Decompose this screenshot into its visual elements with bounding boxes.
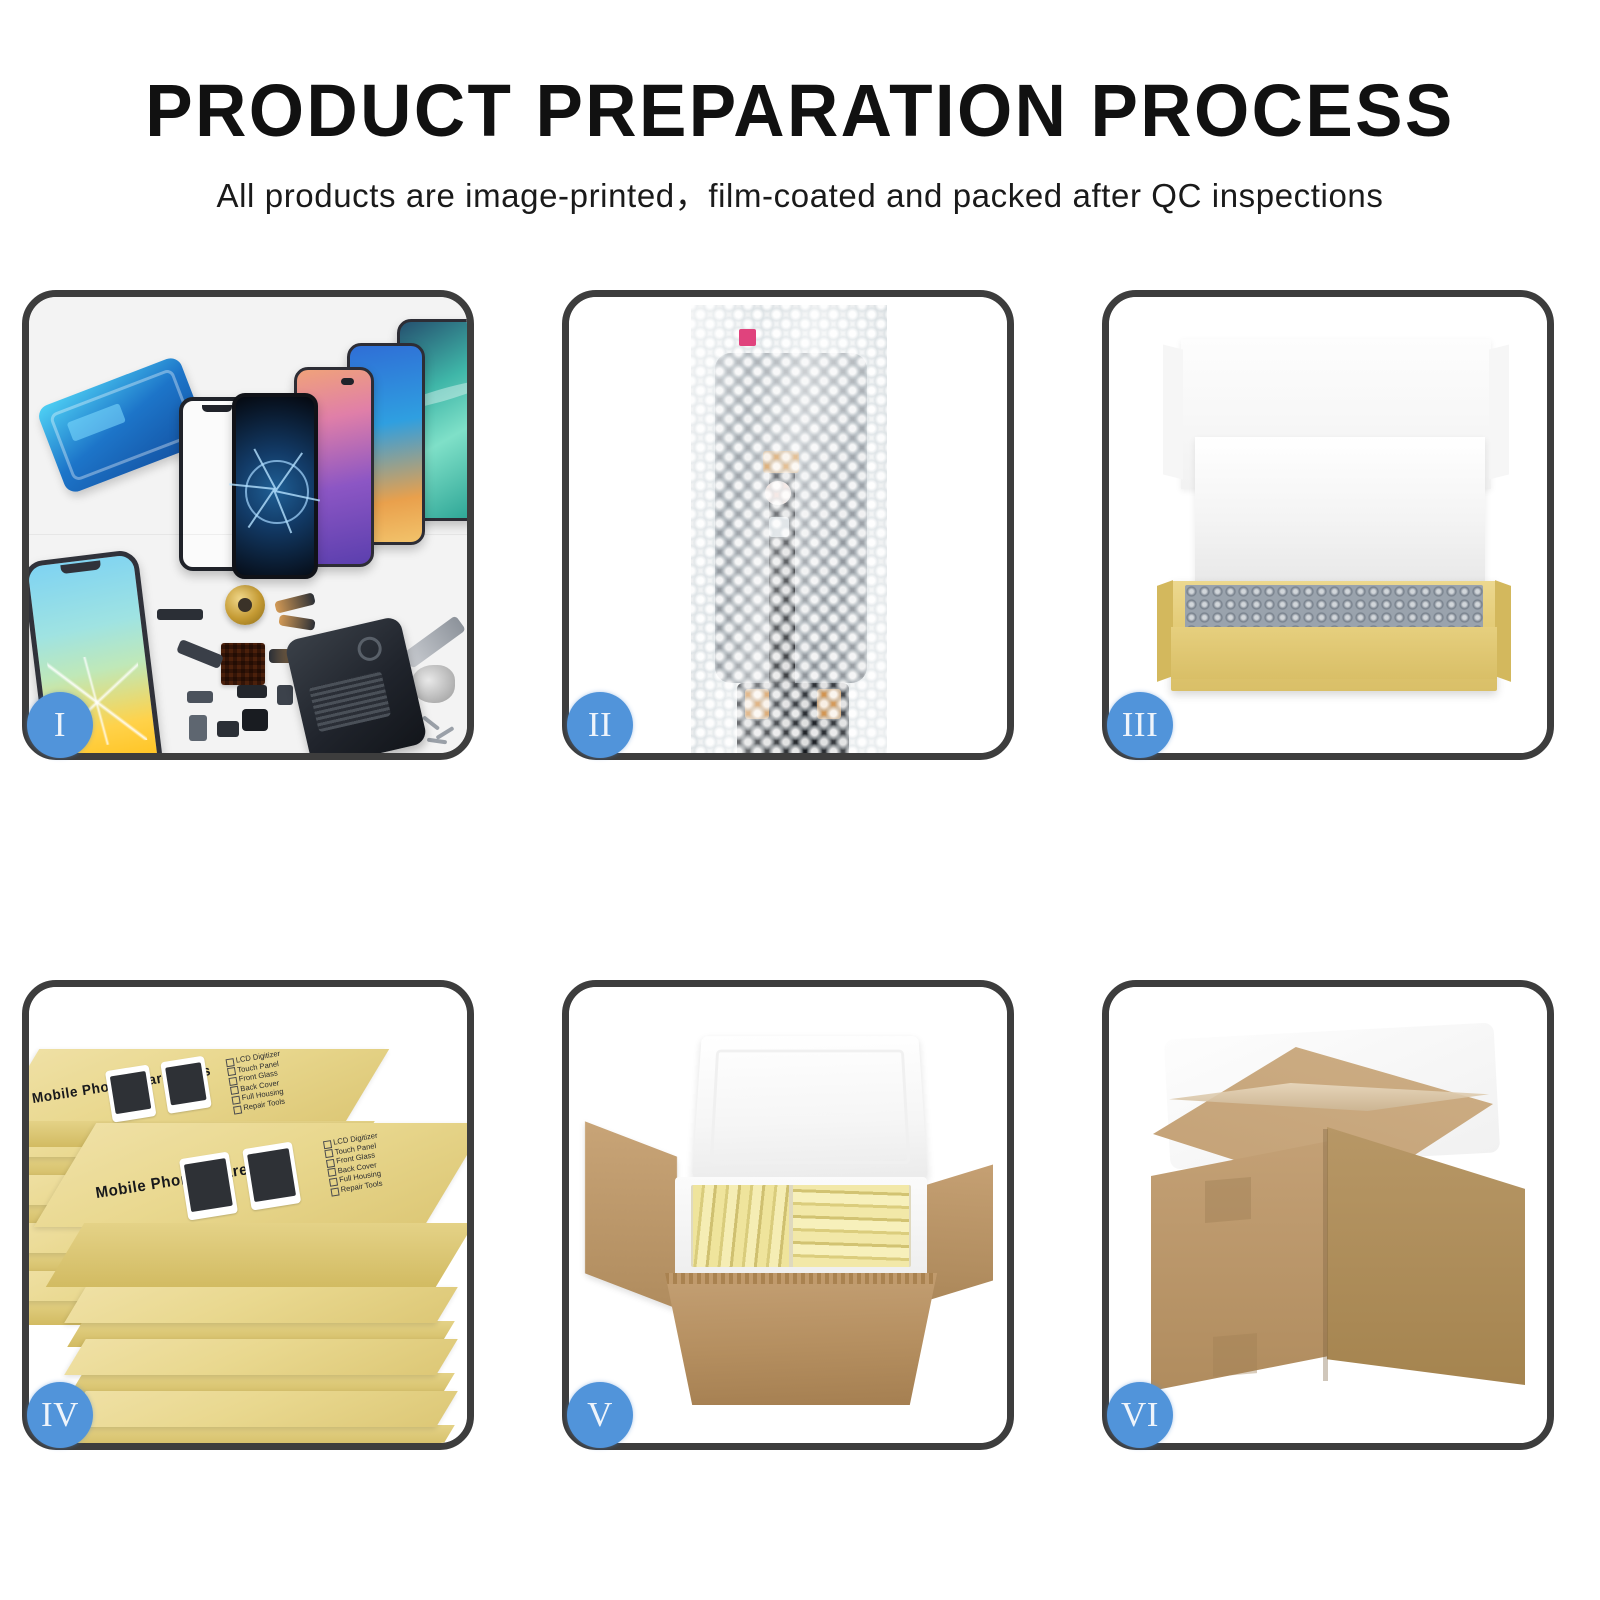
page-subtitle: All products are image-printed，film-coat… [0, 178, 1600, 214]
panel-frame [1102, 290, 1554, 760]
retail-box-plain [75, 1391, 447, 1441]
process-step-panel-6[interactable]: VI [1102, 980, 1554, 1450]
bubble-wrapped-screen-image [569, 297, 1007, 753]
carton-with-foam-image [569, 987, 1007, 1443]
back-housing-part [284, 615, 428, 753]
sealed-shipping-carton-image [1109, 987, 1547, 1443]
repair-tool-tweezer [402, 615, 466, 668]
flex-cable-part [176, 639, 224, 669]
carton-flap-tab [1213, 1333, 1257, 1377]
carton-flap-left [585, 1121, 677, 1308]
process-step-panel-5[interactable]: V [562, 980, 1014, 1450]
retail-box-group-right [793, 1185, 909, 1267]
sim-tray-part [189, 715, 207, 741]
foam-lid [692, 1036, 928, 1180]
carton-right-face [1327, 1127, 1525, 1385]
retail-box-labelled: Mobile Phone Spare Parts LCD Digitizer T… [65, 1123, 455, 1293]
panel-frame: Mobile Phone Spare Parts LCD Digitizer T… [22, 980, 474, 1450]
flex-cable-part [278, 614, 315, 630]
step-badge-3: III [1107, 692, 1173, 758]
foam-sheet-flap [1195, 437, 1485, 585]
screws-group [421, 717, 465, 745]
flex-cable-part [274, 592, 316, 613]
small-component-part [237, 685, 267, 698]
small-component-part [187, 691, 213, 703]
box-front-wall [1171, 627, 1497, 679]
step-badge-1: I [27, 692, 93, 758]
panel-frame [562, 980, 1014, 1450]
page-header: PRODUCT PREPARATION PROCESS All products… [0, 0, 1600, 214]
panel-frame [22, 290, 474, 760]
ic-chip-part [221, 643, 265, 685]
panel-frame [562, 290, 1014, 760]
retail-box-checklist: LCD Digitizer Touch Panel Front Glass Ba… [225, 1049, 356, 1114]
crack-pattern [275, 490, 276, 491]
bubble-wrap-sleeve [691, 305, 887, 753]
process-step-panel-1[interactable]: I [22, 290, 474, 760]
step-badge-4: IV [27, 1382, 93, 1448]
spare-parts-collage-image [29, 297, 467, 753]
carton-flap-tab [1205, 1177, 1251, 1223]
wireless-charging-coil [225, 585, 265, 625]
carton-vertical-seam [1323, 1129, 1328, 1381]
step-badge-5: V [567, 1382, 633, 1448]
retail-box-plain [75, 1339, 447, 1389]
process-step-panel-3[interactable]: III [1102, 290, 1554, 760]
retail-box-group-left [693, 1185, 789, 1267]
small-component-part [277, 685, 293, 705]
battery-connector-part [242, 709, 268, 731]
step-badge-2: II [567, 692, 633, 758]
retail-box-checklist: LCD Digitizer Touch Panel Front Glass Ba… [323, 1123, 454, 1196]
process-step-panel-4[interactable]: Mobile Phone Spare Parts LCD Digitizer T… [22, 980, 474, 1450]
process-panel-grid: I II [22, 290, 1578, 1450]
retail-box-product-thumbnails [179, 1140, 311, 1221]
packed-retail-boxes [691, 1185, 911, 1267]
stacked-retail-boxes-image: Mobile Phone Spare Parts LCD Digitizer T… [29, 987, 467, 1443]
page-title: PRODUCT PREPARATION PROCESS [32, 74, 1568, 148]
retail-box-plain [75, 1287, 447, 1337]
bubble-wrap-gloss [691, 305, 887, 753]
retail-box-product-thumbnails [105, 1054, 220, 1122]
cracked-lcd-display [232, 393, 318, 579]
process-step-panel-2[interactable]: II [562, 290, 1014, 760]
step-badge-6: VI [1107, 1382, 1173, 1448]
pink-qc-tag [739, 329, 756, 346]
carton-body [665, 1273, 937, 1405]
open-inner-box-image [1109, 297, 1547, 753]
panel-frame [1102, 980, 1554, 1450]
small-component-part [217, 721, 239, 737]
earpiece-mesh-part [157, 609, 203, 620]
